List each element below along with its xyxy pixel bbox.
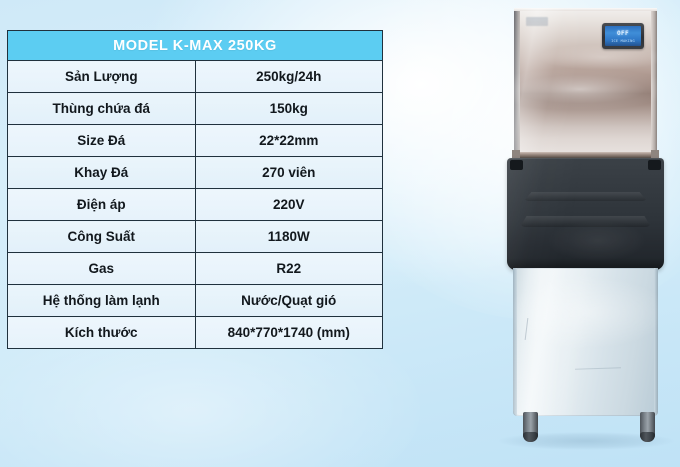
table-row: Kích thước 840*770*1740 (mm): [8, 317, 383, 349]
table-row: Hệ thống làm lạnh Nước/Quạt gió: [8, 285, 383, 317]
machine-head-left-edge: [514, 8, 520, 153]
table-row: Điện áp 220V: [8, 189, 383, 221]
spec-label: Công Suất: [8, 221, 196, 253]
spec-value: 270 viên: [195, 157, 383, 189]
spec-value: 1180W: [195, 221, 383, 253]
table-row: Gas R22: [8, 253, 383, 285]
table-row: Khay Đá 270 viên: [8, 157, 383, 189]
spec-value: 150kg: [195, 93, 383, 125]
spec-label: Sản Lượng: [8, 61, 196, 93]
spec-value: 250kg/24h: [195, 61, 383, 93]
spec-label: Size Đá: [8, 125, 196, 157]
table-body: Sản Lượng 250kg/24h Thùng chứa đá 150kg …: [8, 61, 383, 349]
spec-value: Nước/Quạt gió: [195, 285, 383, 317]
table-row: Công Suất 1180W: [8, 221, 383, 253]
machine-bin-hinge-left: [510, 160, 523, 170]
spec-value: 22*22mm: [195, 125, 383, 157]
table-header-row: MODEL K-MAX 250KG: [8, 31, 383, 61]
poster-canvas: MODEL K-MAX 250KG Sản Lượng 250kg/24h Th…: [0, 0, 680, 467]
spec-value: 840*770*1740 (mm): [195, 317, 383, 349]
machine-base-cabinet: [513, 268, 658, 416]
control-panel-subtext: ICE MAKING: [605, 38, 641, 45]
spec-label: Hệ thống làm lạnh: [8, 285, 196, 317]
table-title: MODEL K-MAX 250KG: [8, 31, 383, 61]
machine-base-right-edge: [654, 268, 658, 416]
machine-bin-hinge-right: [648, 160, 661, 170]
machine-bin-ridge-upper: [524, 192, 647, 201]
spec-value: 220V: [195, 189, 383, 221]
specification-table: MODEL K-MAX 250KG Sản Lượng 250kg/24h Th…: [7, 30, 383, 349]
machine-bin-ridge-lower: [520, 216, 651, 227]
spec-value: R22: [195, 253, 383, 285]
machine-base-left-edge: [513, 268, 517, 416]
machine-head-top-edge: [514, 8, 657, 11]
table-row: Size Đá 22*22mm: [8, 125, 383, 157]
spec-label: Kích thước: [8, 317, 196, 349]
machine-head-right-edge: [651, 8, 657, 153]
spec-label: Thùng chứa đá: [8, 93, 196, 125]
machine-bin-door: [507, 158, 664, 270]
spec-label: Điện áp: [8, 189, 196, 221]
table-row: Sản Lượng 250kg/24h: [8, 61, 383, 93]
spec-label: Gas: [8, 253, 196, 285]
spec-label: Khay Đá: [8, 157, 196, 189]
ice-maker-machine-image: OFF ICE MAKING: [490, 0, 680, 467]
table-row: Thùng chứa đá 150kg: [8, 93, 383, 125]
brand-logo-icon: [526, 17, 548, 26]
control-panel-status-text: OFF: [605, 29, 641, 38]
